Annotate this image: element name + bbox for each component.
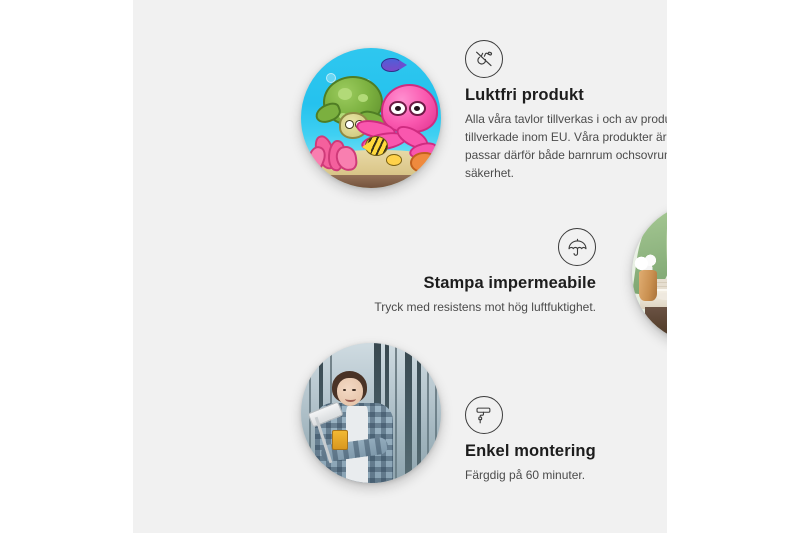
paint-can-art [332,430,348,450]
tree-trunk-art [395,343,397,483]
bathroom-vanity-tropical-wallpaper-medallion [632,203,667,343]
feature-description: Alla våra tavlor tillverkas i och av pro… [465,110,667,182]
feature-title: Stampa impermeabile [338,274,596,293]
no-odour-spray-bottle-icon [465,40,503,78]
feature-description: Tryck med resistens mot hög luftfuktighe… [338,298,596,316]
painter-eye-art [352,389,356,391]
feature-block-waterproof: Stampa impermeabile Tryck med resistens … [338,228,596,316]
infographic-canvas: Luktfri produkt Alla våra tavlor tillver… [0,0,800,533]
painter-woman-forest-medallion [301,343,441,483]
tree-trunk-art [435,343,437,483]
octopus-eye-art [409,101,427,117]
vanity-cabinet [645,307,667,343]
feature-description: Färgdig på 60 minuter. [465,466,667,484]
feature-block-odourless: Luktfri produkt Alla våra tavlor tillver… [465,40,667,182]
bathroom-scene-art [632,203,667,343]
tree-trunk-art [405,343,412,483]
tree-trunk-art [427,343,429,483]
paint-roller-icon [465,396,503,434]
painter-eye-art [343,389,347,391]
painter-face-art [337,378,362,406]
feature-title: Enkel montering [465,442,667,461]
copper-vase-art [639,270,657,301]
painter-smile-art [345,396,356,402]
underwater-scene-art [301,48,441,188]
umbrella-icon [558,228,596,266]
feature-title: Luktfri produkt [465,86,667,105]
tree-trunk-art [417,343,421,483]
underwater-cartoon-scene-medallion [301,48,441,188]
octopus-eye-art [389,101,407,117]
painter-forest-scene-art [301,343,441,483]
soap-dish-art [657,293,667,300]
feature-block-assembly: Enkel montering Färgdig på 60 minuter. [465,396,667,484]
orange-coral-art [410,152,436,173]
sea-bed-strip [301,175,441,188]
content-panel: Luktfri produkt Alla våra tavlor tillver… [133,0,667,533]
